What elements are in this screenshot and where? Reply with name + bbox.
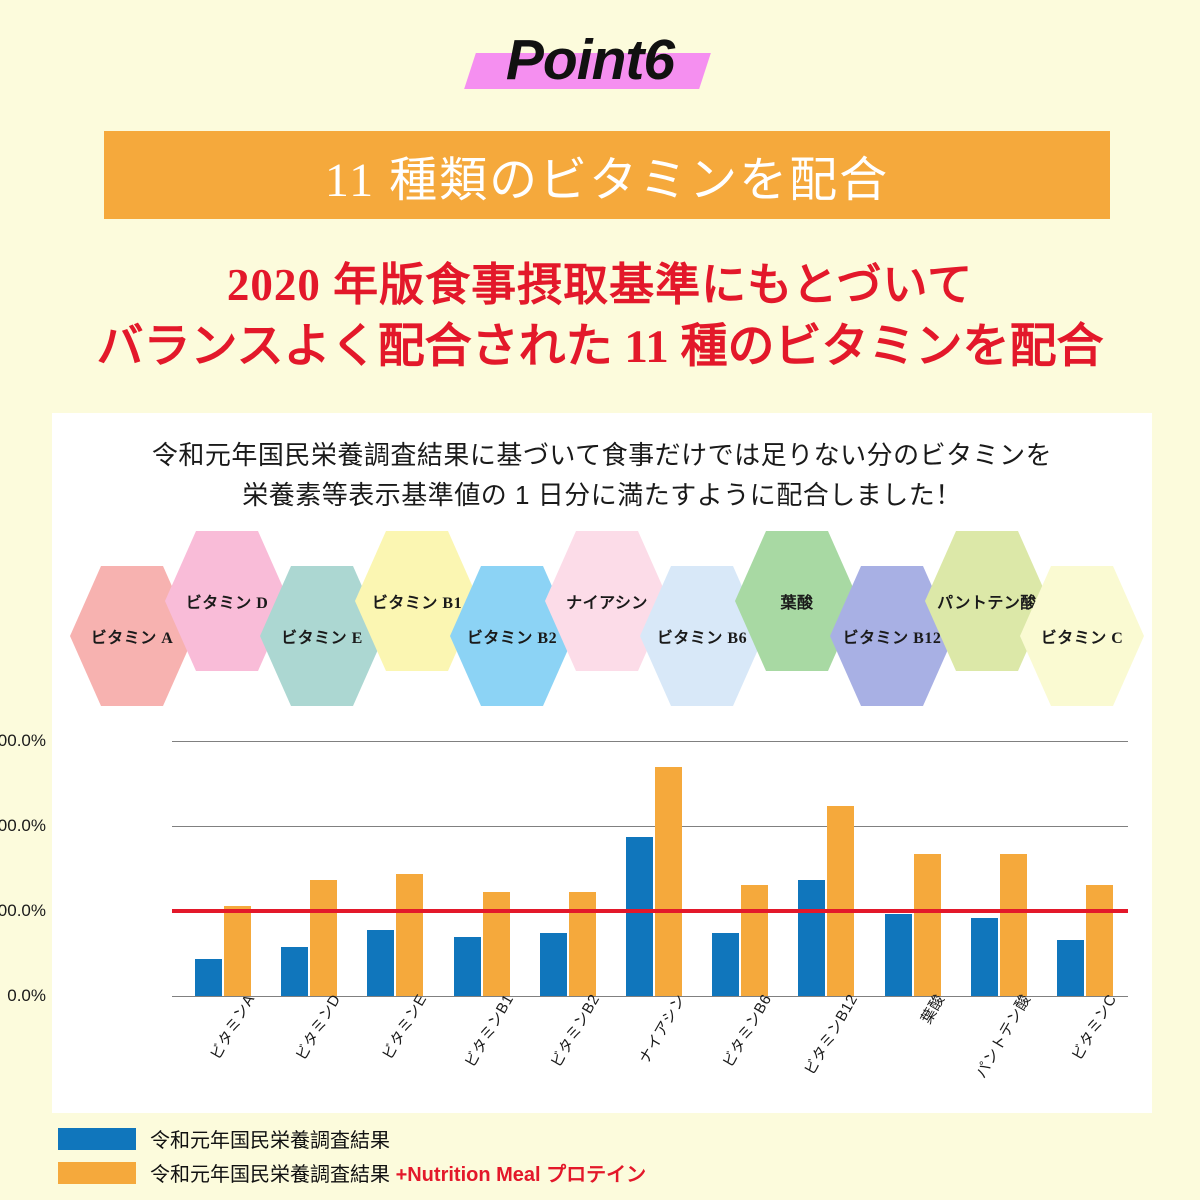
bar-group (697, 741, 783, 996)
headline-line-2: バランスよく配合された 11 種のビタミンを配合 (0, 316, 1200, 379)
bar-survey (885, 914, 912, 996)
card-description-line-2: 栄養素等表示基準値の 1 日分に満たすように配合しました！ (52, 475, 1152, 515)
bar-survey (367, 930, 394, 996)
bar-survey (971, 918, 998, 996)
x-axis-label: ナイアシン (634, 990, 691, 1067)
legend-swatch (58, 1162, 136, 1184)
bar-with-protein (483, 892, 510, 996)
card-description-line-1: 令和元年国民栄養調査結果に基づいて食事だけでは足りない分のビタミンを (52, 435, 1152, 475)
hexagon-label: ビタミン C (1041, 624, 1124, 648)
page-root: { "badge": { "label": "Point6", "highlig… (0, 0, 1200, 1200)
bar-group (266, 741, 352, 996)
bar-group (439, 741, 525, 996)
x-axis-label: パントテン酸 (970, 990, 1035, 1082)
bar-with-protein (655, 767, 682, 996)
bar-with-protein (741, 885, 768, 996)
bar-survey (454, 937, 481, 996)
hexagon-label: パントテン酸 (937, 589, 1037, 613)
bar-survey (798, 880, 825, 996)
section-banner: 11 種類のビタミンを配合 (104, 131, 1110, 219)
legend-row: 令和元年国民栄養調査結果 +Nutrition Meal プロテイン (58, 1158, 958, 1187)
bar-with-protein (569, 892, 596, 996)
hexagon-label: ビタミン B2 (467, 624, 557, 648)
y-axis-tick-200: 200.0% (0, 816, 46, 836)
legend-swatch (58, 1128, 136, 1150)
legend-row: 令和元年国民栄養調査結果 (58, 1124, 958, 1153)
x-axis-label: ビタミンB2 (545, 990, 604, 1071)
bar-with-protein (224, 906, 251, 996)
bar-group (870, 741, 956, 996)
vitamin-hexagon-row: ビタミン Aビタミン Dビタミン Eビタミン B1ビタミン B2ナイアシンビタミ… (62, 531, 1152, 706)
point-label: Point6 (506, 27, 674, 93)
bar-with-protein (1000, 854, 1027, 996)
x-axis-label: ビタミンE (377, 990, 431, 1063)
vitamin-intake-chart: 0.0%100.0%200.0%300.0% ビタミンAビタミンDビタミンEビタ… (52, 728, 1152, 1113)
headline-line-1: 2020 年版食事摂取基準にもとづいて (0, 256, 1200, 316)
bar-groups (180, 741, 1128, 996)
hexagon-label: ビタミン B6 (657, 624, 747, 648)
bar-with-protein (1086, 885, 1113, 996)
bar-group (956, 741, 1042, 996)
bar-survey (626, 837, 653, 996)
reference-line-100 (172, 909, 1128, 913)
bar-with-protein (396, 874, 423, 996)
bar-group (180, 741, 266, 996)
x-axis-label: ビタミンB1 (459, 990, 518, 1071)
y-axis-tick-300: 300.0% (0, 731, 46, 751)
hexagon-label: ビタミン D (186, 589, 269, 613)
hexagon-label: ナイアシン (566, 589, 648, 613)
bar-with-protein (310, 880, 337, 996)
bar-group (525, 741, 611, 996)
chart-legend: 令和元年国民栄養調査結果令和元年国民栄養調査結果 +Nutrition Meal… (58, 1124, 958, 1192)
y-axis-tick-0: 0.0% (0, 986, 46, 1006)
hexagon-label: ビタミン B12 (843, 624, 942, 648)
bar-with-protein (914, 854, 941, 996)
hexagon-label: ビタミン A (91, 624, 174, 648)
chart-plot-area: 0.0%100.0%200.0%300.0% (180, 741, 1128, 996)
bar-with-protein (827, 806, 854, 996)
banner-title: 11 種類のビタミンを配合 (325, 140, 889, 210)
x-axis-label: ビタミンB12 (799, 990, 862, 1079)
x-axis-label: ビタミンB6 (717, 990, 776, 1071)
legend-label: 令和元年国民栄養調査結果 +Nutrition Meal プロテイン (150, 1158, 646, 1187)
bar-group (352, 741, 438, 996)
bar-survey (712, 933, 739, 996)
bar-group (783, 741, 869, 996)
legend-label: 令和元年国民栄養調査結果 (150, 1124, 390, 1153)
y-axis-tick-100: 100.0% (0, 901, 46, 921)
x-axis-label: ビタミンC (1066, 990, 1121, 1064)
bar-survey (540, 933, 567, 996)
point-badge: Point6 (0, 0, 1200, 110)
content-card: 令和元年国民栄養調査結果に基づいて食事だけでは足りない分のビタミンを 栄養素等表… (52, 413, 1152, 1113)
bar-survey (195, 959, 222, 996)
headline: 2020 年版食事摂取基準にもとづいて バランスよく配合された 11 種のビタミ… (0, 256, 1200, 378)
bar-group (1042, 741, 1128, 996)
bar-survey (1057, 940, 1084, 996)
hexagon-label: ビタミン E (281, 624, 363, 648)
legend-label-accent: +Nutrition Meal プロテイン (396, 1164, 647, 1186)
x-axis-label: ビタミンD (291, 990, 346, 1064)
bar-group (611, 741, 697, 996)
bar-survey (281, 947, 308, 996)
x-axis-label: ビタミンA (205, 990, 259, 1063)
card-description: 令和元年国民栄養調査結果に基づいて食事だけでは足りない分のビタミンを 栄養素等表… (52, 413, 1152, 516)
hexagon-label: ビタミン B1 (372, 589, 462, 613)
gridline-0 (172, 996, 1128, 997)
hexagon-label: 葉酸 (780, 589, 813, 613)
